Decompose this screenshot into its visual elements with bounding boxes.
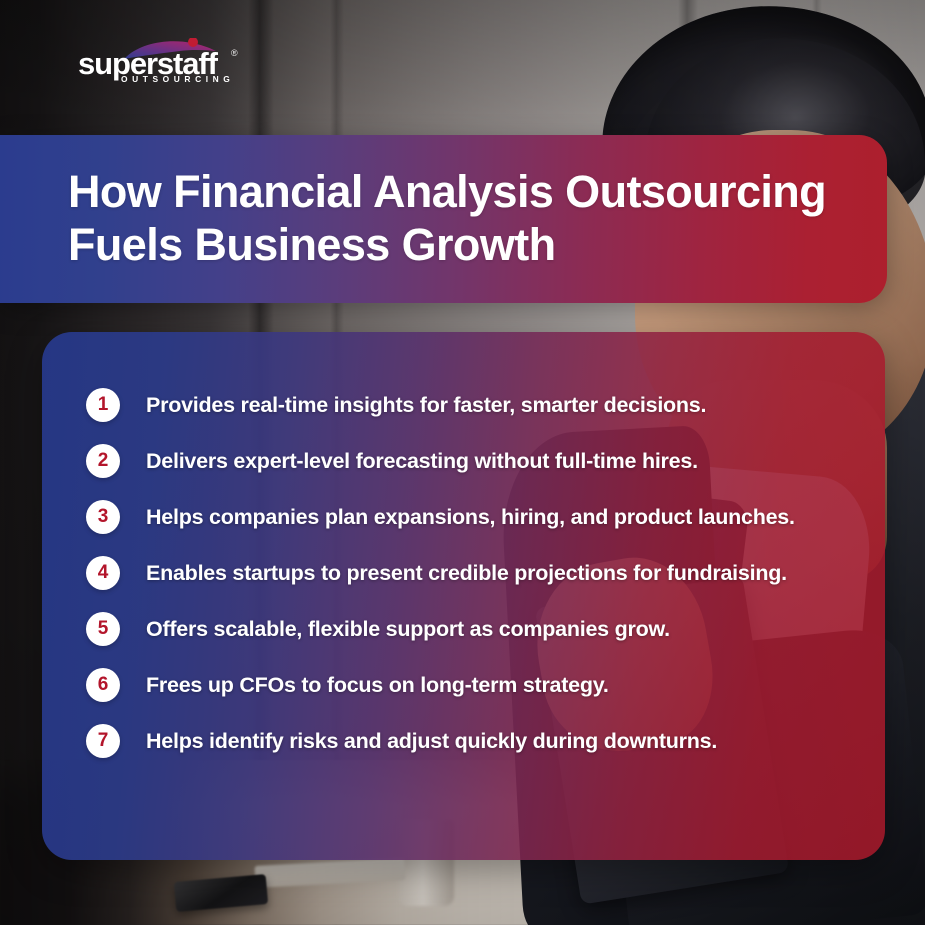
title-banner: How Financial Analysis Outsourcing Fuels… (0, 135, 887, 303)
list-item: 6 Frees up CFOs to focus on long-term st… (64, 657, 859, 713)
list-item-number: 2 (86, 444, 120, 478)
list-item-number: 4 (86, 556, 120, 590)
list-item: 1 Provides real-time insights for faster… (64, 377, 859, 433)
list-item-number: 7 (86, 724, 120, 758)
list-item-label: Helps identify risks and adjust quickly … (146, 729, 717, 754)
list-item: 7 Helps identify risks and adjust quickl… (64, 713, 859, 769)
list-item-label: Provides real-time insights for faster, … (146, 393, 706, 418)
list-item-label: Frees up CFOs to focus on long-term stra… (146, 673, 609, 698)
benefits-list: 1 Provides real-time insights for faster… (64, 377, 859, 769)
list-item: 5 Offers scalable, flexible support as c… (64, 601, 859, 657)
list-item-number: 6 (86, 668, 120, 702)
list-item-label: Enables startups to present credible pro… (146, 561, 787, 586)
infographic-poster: superstaff ® OUTSOURCING How Financial A… (0, 0, 925, 925)
list-item-number: 1 (86, 388, 120, 422)
list-item: 4 Enables startups to present credible p… (64, 545, 859, 601)
list-item-number: 3 (86, 500, 120, 534)
logo-tagline: OUTSOURCING (121, 74, 234, 84)
list-item-label: Delivers expert-level forecasting withou… (146, 449, 698, 474)
list-item-label: Helps companies plan expansions, hiring,… (146, 505, 795, 530)
page-title: How Financial Analysis Outsourcing Fuels… (68, 165, 863, 271)
list-item: 2 Delivers expert-level forecasting with… (64, 433, 859, 489)
superstaff-logo[interactable]: superstaff ® OUTSOURCING (78, 40, 253, 84)
list-item-number: 5 (86, 612, 120, 646)
list-item-label: Offers scalable, flexible support as com… (146, 617, 670, 642)
list-item: 3 Helps companies plan expansions, hirin… (64, 489, 859, 545)
benefits-list-card: 1 Provides real-time insights for faster… (42, 332, 885, 860)
registered-mark: ® (231, 48, 238, 58)
